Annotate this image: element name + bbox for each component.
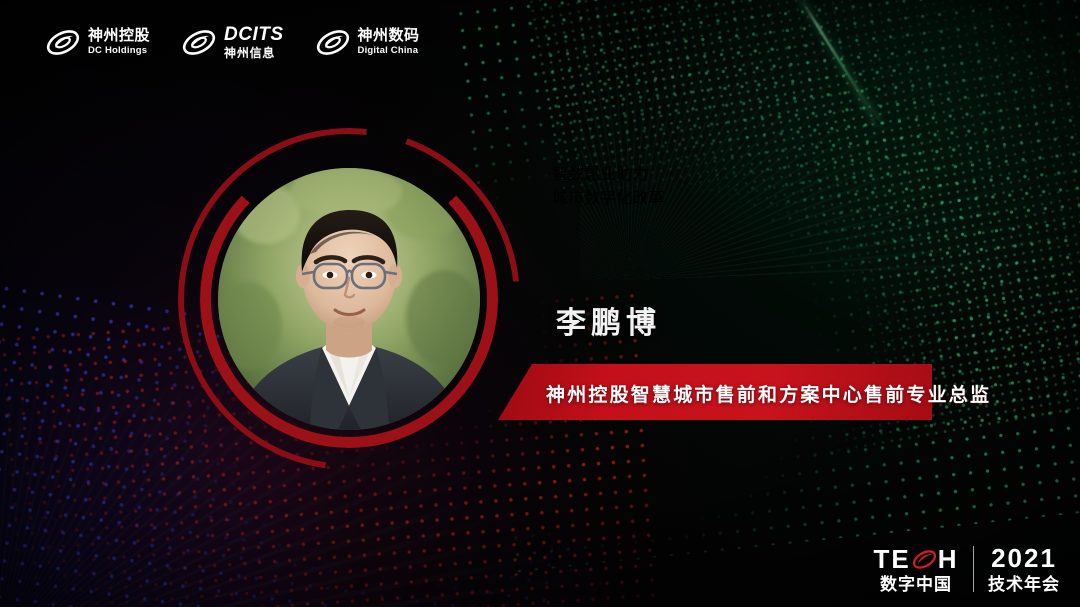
- event-logo-tech-post: H: [938, 546, 959, 572]
- avatar: [218, 168, 480, 430]
- sponsor-logo-bar: 神州控股 DC Holdings DCITS 神州信息: [46, 25, 452, 59]
- talk-title-line-2: 城市数字化改革: [552, 184, 664, 208]
- event-logo-tech-cn: 数字中国: [880, 576, 952, 593]
- swoosh-logo-icon: [182, 29, 216, 56]
- logo-dcits-latin: DCITS: [224, 25, 284, 44]
- talk-title-line-1: 智数慧业助力: [552, 160, 664, 184]
- swoosh-logo-icon: [46, 29, 80, 56]
- event-logo-tech-pre: TE: [873, 546, 910, 572]
- logo-dc-holdings-en: DC Holdings: [88, 46, 150, 56]
- speaker-portrait: [178, 128, 520, 470]
- tech-swoosh-icon: [912, 548, 937, 569]
- talk-title: 智数慧业助力 城市数字化改革: [552, 160, 664, 208]
- event-logo-tech-wordmark: TE H: [873, 546, 958, 572]
- logo-digital-china-en: Digital China: [358, 46, 420, 56]
- event-logo-year-cn: 技术年会: [988, 576, 1060, 593]
- logo-dcits-cn: 神州信息: [224, 47, 284, 59]
- event-logo-year: 2021: [991, 545, 1057, 571]
- logo-dc-holdings: 神州控股 DC Holdings: [46, 28, 182, 56]
- event-logo: TE H 数字中国 2021 技术年会: [873, 545, 1060, 593]
- logo-digital-china-cn: 神州数码: [358, 28, 420, 43]
- presentation-slide: 神州控股 DC Holdings DCITS 神州信息: [0, 0, 1080, 607]
- logo-digital-china: 神州数码 Digital China: [316, 28, 452, 56]
- event-logo-year-block: 2021 技术年会: [988, 545, 1060, 593]
- logo-dcits-text: DCITS 神州信息: [224, 25, 284, 59]
- swoosh-logo-icon: [316, 29, 350, 56]
- speaker-role-text: 神州控股智慧城市售前和方案中心售前专业总监: [546, 380, 991, 407]
- event-logo-divider: [973, 546, 975, 592]
- logo-dcits: DCITS 神州信息: [182, 25, 316, 59]
- event-logo-tech: TE H 数字中国: [873, 546, 958, 593]
- speaker-name: 李鹏博: [556, 298, 661, 342]
- logo-dc-holdings-text: 神州控股 DC Holdings: [88, 28, 150, 56]
- logo-dc-holdings-cn: 神州控股: [88, 28, 150, 43]
- logo-digital-china-text: 神州数码 Digital China: [358, 28, 420, 56]
